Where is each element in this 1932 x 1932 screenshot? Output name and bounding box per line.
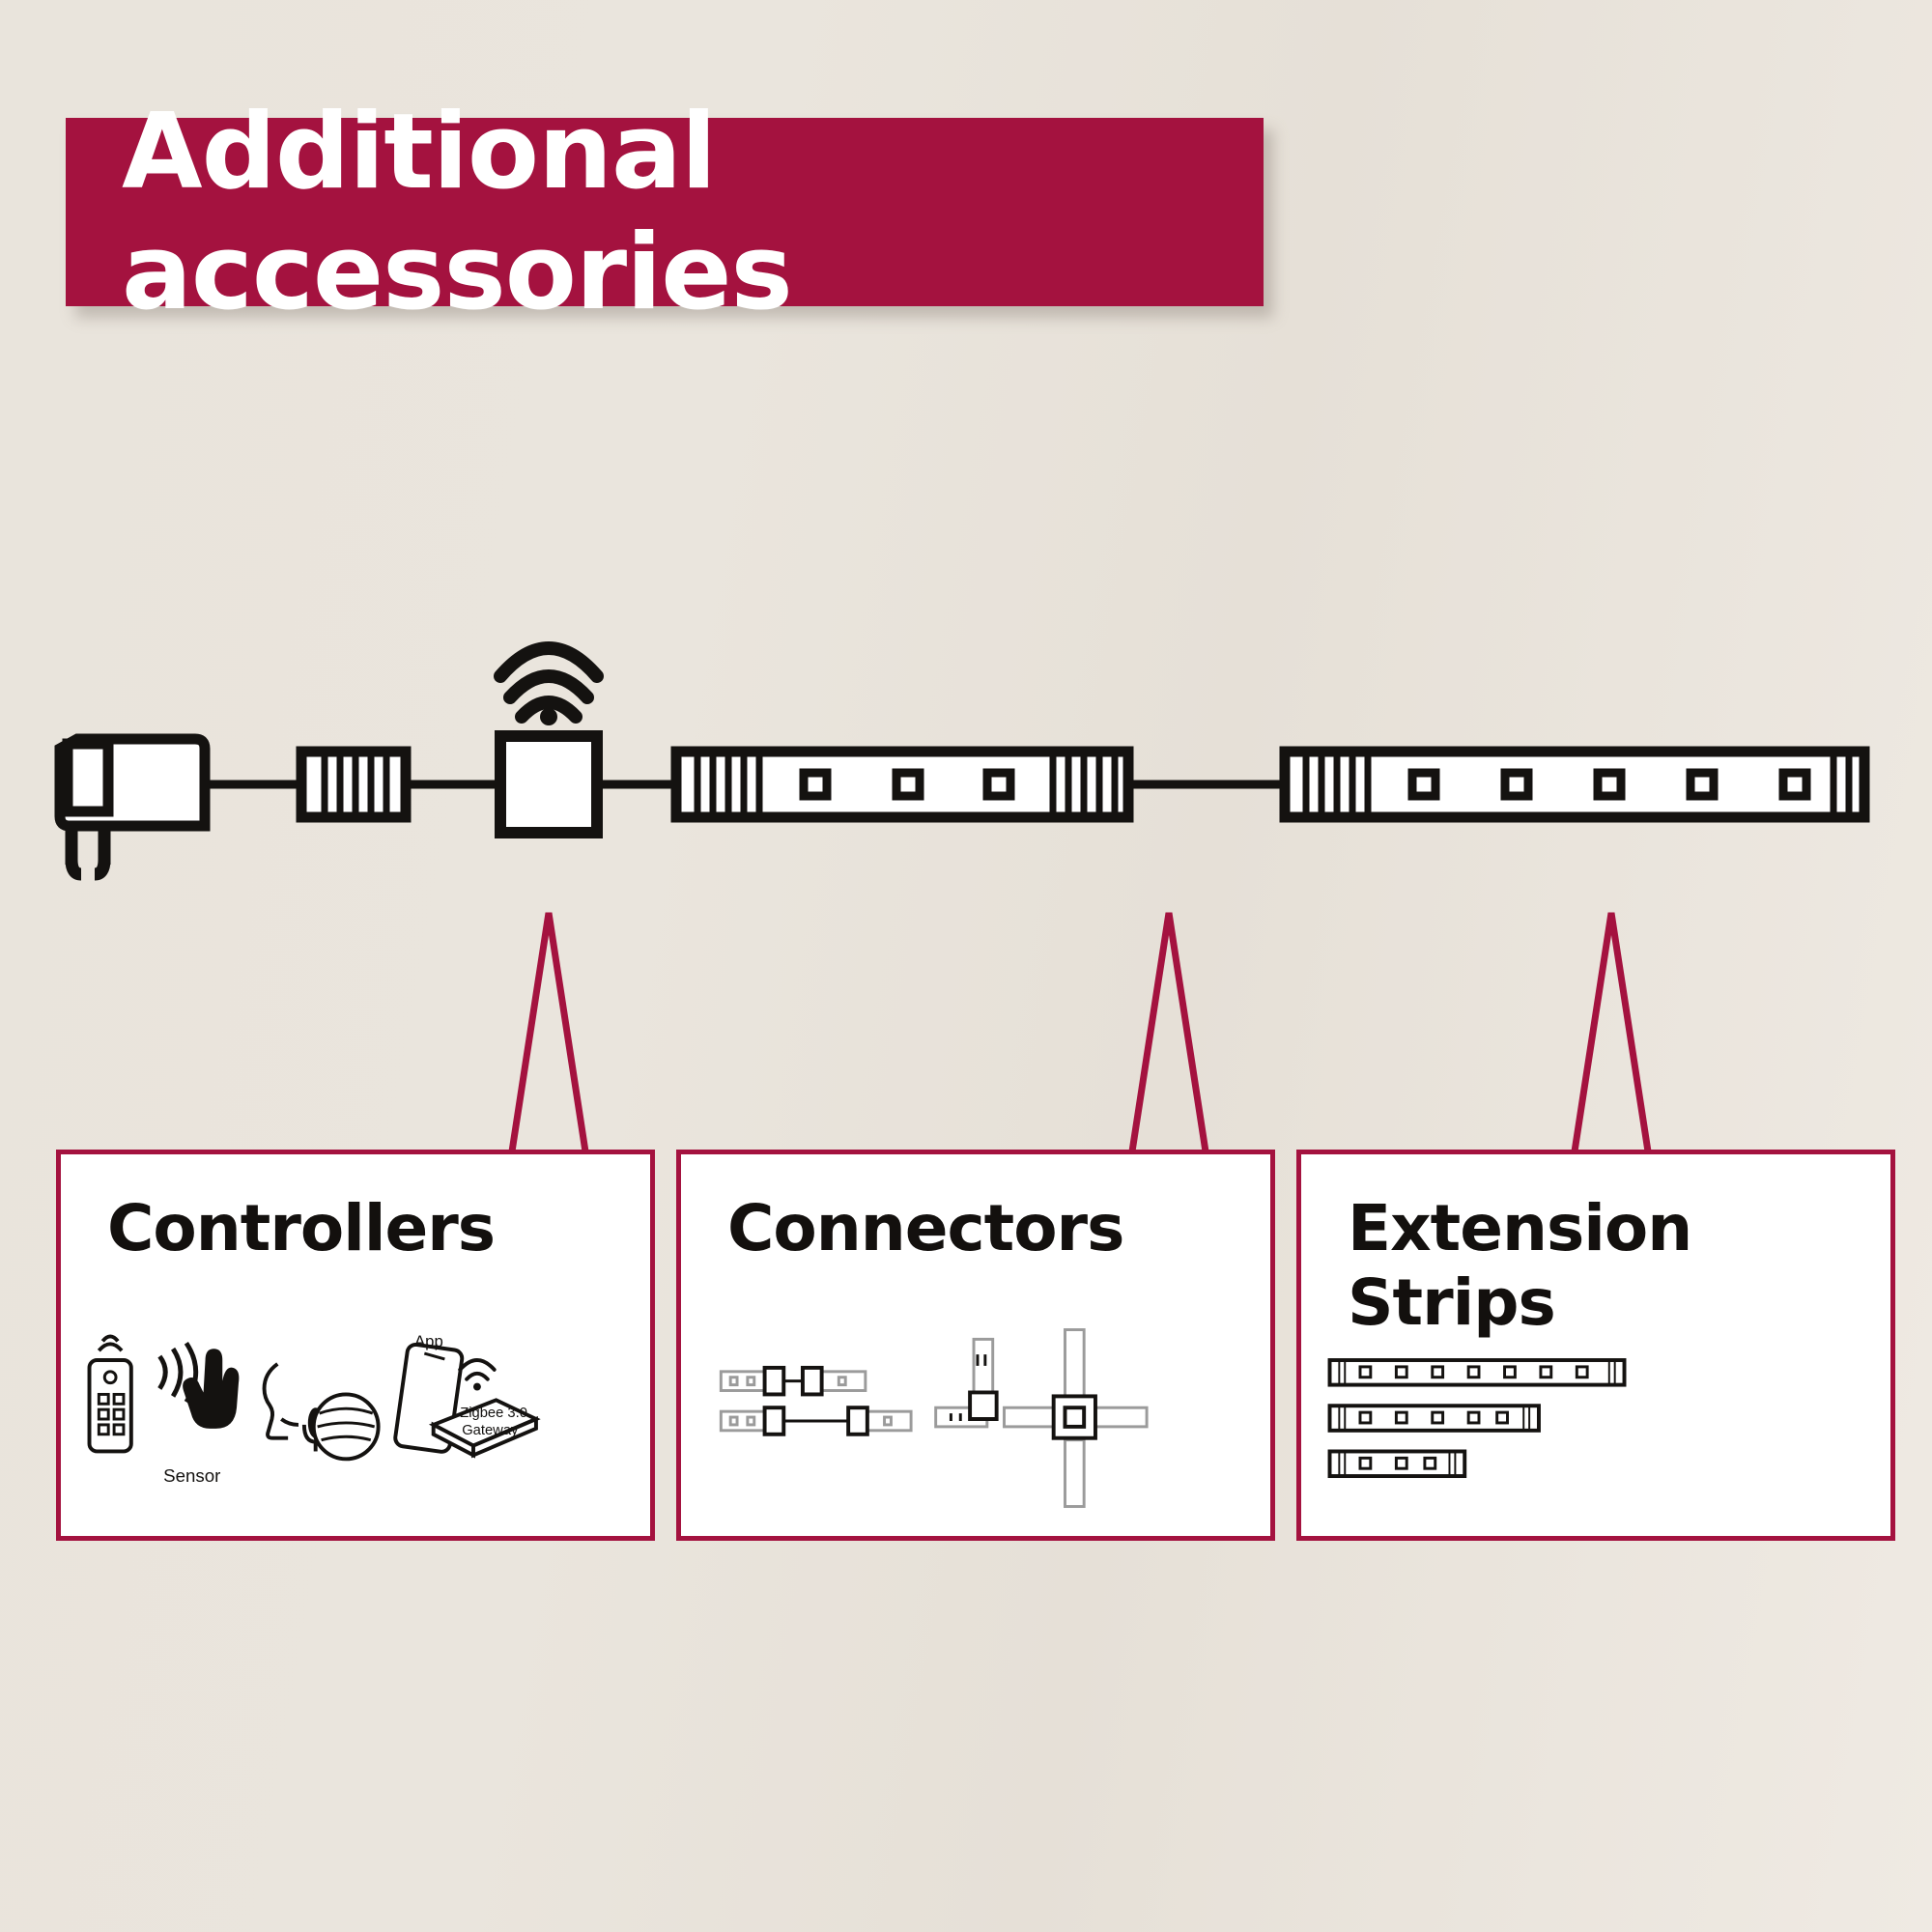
- pointer-connectors: [1132, 913, 1206, 1151]
- card-extension-icons: [1301, 1299, 1890, 1541]
- card-controllers-icons: Sensor App Zigbee 3.0: [61, 1299, 650, 1541]
- extension-strip-medium-icon: [1330, 1406, 1539, 1431]
- zigbee-gateway-label-2: Gateway: [462, 1423, 519, 1438]
- corner-connector-icon: [936, 1339, 997, 1427]
- cross-connector-icon: [1005, 1330, 1148, 1507]
- wifi-small-icon: [460, 1360, 494, 1390]
- card-controllers-title: Controllers: [61, 1154, 650, 1265]
- wifi-signal-icon: [500, 648, 597, 725]
- pointer-controllers: [512, 913, 585, 1151]
- extension-strip-short-icon: [1330, 1451, 1465, 1476]
- pointer-extension: [1575, 913, 1648, 1151]
- card-controllers[interactable]: Controllers Sensor: [56, 1150, 655, 1541]
- zigbee-gateway-label: Zigbee 3.0: [460, 1406, 527, 1421]
- led-strip-segment-2: [1285, 752, 1864, 817]
- wifi-controller: [500, 736, 597, 833]
- system-diagram: [0, 0, 1932, 1932]
- motion-sensor-label: Sensor: [163, 1465, 220, 1486]
- motion-sensor-icon: [159, 1343, 239, 1429]
- remote-control-icon: [90, 1336, 131, 1451]
- callout-pointers: [512, 913, 1648, 1151]
- card-connectors-icons: [681, 1299, 1270, 1541]
- connector-block-1: [301, 752, 406, 817]
- power-supply-plug: [60, 739, 205, 874]
- strip-to-strip-connector-icon: [721, 1368, 911, 1435]
- extension-strip-long-icon: [1330, 1360, 1625, 1385]
- card-extension-strips[interactable]: Extension Strips: [1296, 1150, 1895, 1541]
- voice-control-icon: [265, 1364, 379, 1459]
- app-label: App: [414, 1332, 443, 1350]
- led-strip-segment-1: [676, 752, 1128, 817]
- card-connectors[interactable]: Connectors: [676, 1150, 1275, 1541]
- card-connectors-title: Connectors: [681, 1154, 1270, 1265]
